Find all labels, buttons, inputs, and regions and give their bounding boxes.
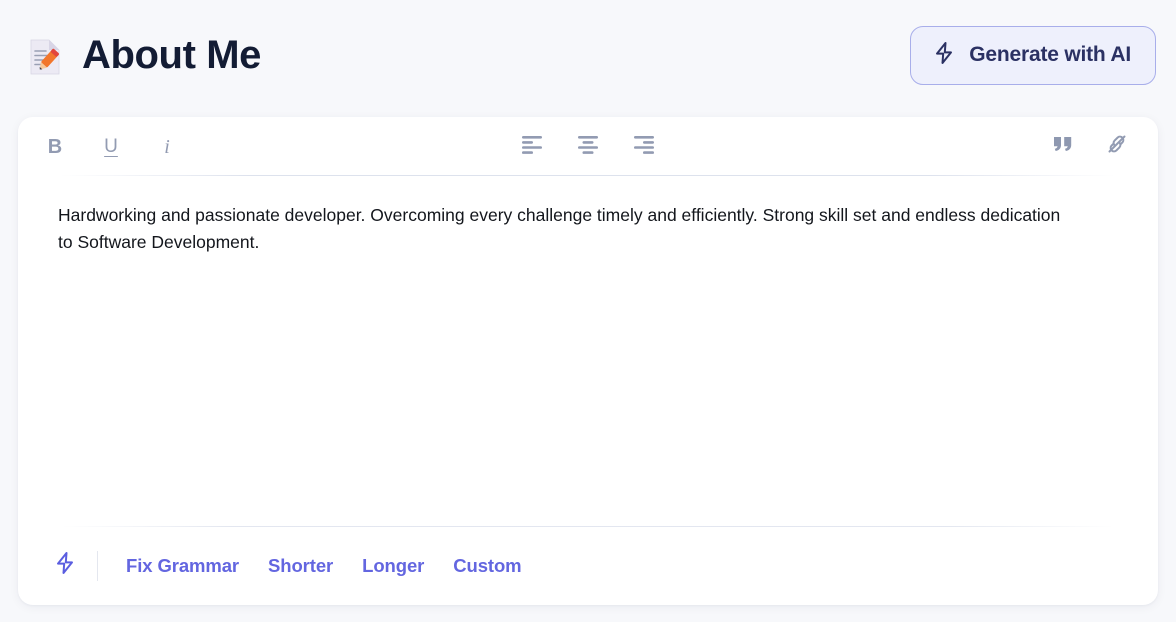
alignment-group	[517, 132, 659, 162]
align-right-icon	[633, 134, 655, 159]
shorter-action[interactable]: Shorter	[268, 555, 333, 577]
generate-with-ai-button[interactable]: Generate with AI	[910, 26, 1156, 85]
unlink-button[interactable]	[1102, 132, 1132, 162]
underline-button[interactable]: U	[96, 132, 126, 162]
text-style-group: B U i	[40, 132, 182, 162]
about-me-editor-page: About Me Generate with AI B U i	[0, 0, 1176, 622]
fix-grammar-action[interactable]: Fix Grammar	[126, 555, 239, 577]
footer-divider	[97, 551, 98, 581]
quote-icon	[1052, 134, 1074, 159]
page-header: About Me Generate with AI	[0, 0, 1176, 110]
custom-action[interactable]: Custom	[453, 555, 521, 577]
underline-icon: U	[104, 137, 118, 156]
blockquote-button[interactable]	[1048, 132, 1078, 162]
align-right-button[interactable]	[629, 132, 659, 162]
ai-action-links: Fix Grammar Shorter Longer Custom	[126, 555, 522, 577]
align-left-button[interactable]	[517, 132, 547, 162]
align-center-button[interactable]	[573, 132, 603, 162]
formatting-toolbar: B U i	[18, 117, 1158, 176]
title-group: About Me	[24, 32, 261, 78]
bold-icon: B	[48, 137, 62, 157]
generate-with-ai-label: Generate with AI	[969, 43, 1131, 67]
bold-button[interactable]: B	[40, 132, 70, 162]
zap-icon	[933, 41, 955, 70]
unlink-icon	[1105, 132, 1129, 161]
insert-group	[1048, 132, 1132, 162]
align-left-icon	[521, 134, 543, 159]
zap-icon	[54, 551, 76, 580]
longer-action[interactable]: Longer	[362, 555, 424, 577]
editor-body[interactable]: Hardworking and passionate developer. Ov…	[18, 176, 1158, 526]
italic-icon: i	[164, 137, 170, 157]
ai-actions-bar: Fix Grammar Shorter Longer Custom	[18, 526, 1158, 605]
editor-card: B U i	[18, 117, 1158, 605]
ai-zap-icon-button[interactable]	[52, 553, 78, 579]
align-center-icon	[577, 134, 599, 159]
memo-pencil-emoji	[24, 36, 66, 78]
page-title: About Me	[82, 35, 261, 75]
italic-button[interactable]: i	[152, 132, 182, 162]
editor-content-text[interactable]: Hardworking and passionate developer. Ov…	[58, 202, 1078, 256]
